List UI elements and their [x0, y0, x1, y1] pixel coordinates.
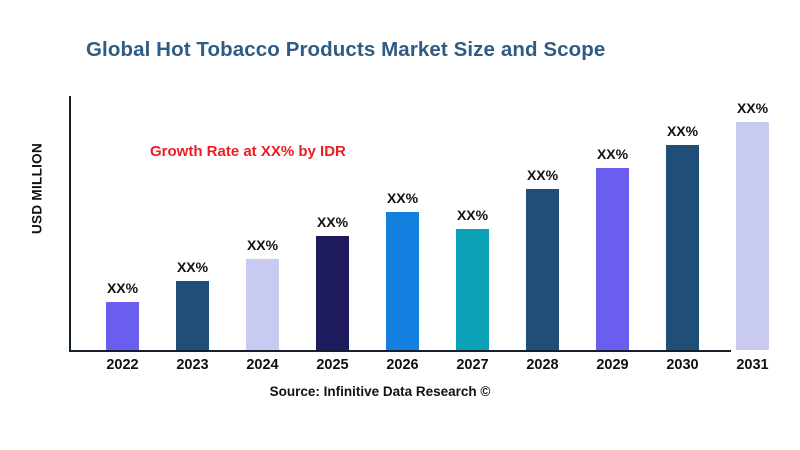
bar-rect-2022	[106, 302, 139, 350]
bar-2023[interactable]	[176, 281, 209, 350]
bar-rect-2026	[386, 212, 419, 350]
x-tick-label-2030: 2030	[653, 357, 713, 373]
x-tick-label-2027: 2027	[443, 357, 503, 373]
bar-value-label-2023: XX%	[177, 259, 208, 275]
bar-2031[interactable]	[736, 122, 769, 350]
bar-2028[interactable]	[526, 189, 559, 350]
bar-rect-2030	[666, 145, 699, 350]
bar-value-label-2030: XX%	[667, 123, 698, 139]
bar-value-label-2022: XX%	[107, 280, 138, 296]
x-tick-label-2022: 2022	[93, 357, 153, 373]
bar-2022[interactable]	[106, 302, 139, 350]
bar-value-label-2029: XX%	[597, 146, 628, 162]
x-tick-label-2023: 2023	[163, 357, 223, 373]
x-tick-label-2024: 2024	[233, 357, 293, 373]
bar-2027[interactable]	[456, 229, 489, 350]
bar-rect-2023	[176, 281, 209, 350]
bar-2025[interactable]	[316, 236, 349, 350]
bar-2024[interactable]	[246, 259, 279, 350]
x-tick-label-2031: 2031	[723, 357, 783, 373]
bar-rect-2028	[526, 189, 559, 350]
plot-area: XX%XX%XX%XX%XX%XX%XX%XX%XX%XX%	[0, 0, 800, 352]
bar-chart-figure: Global Hot Tobacco Products Market Size …	[0, 0, 800, 450]
bar-rect-2029	[596, 168, 629, 350]
source-note: Source: Infinitive Data Research ©	[0, 384, 760, 399]
x-tick-label-2026: 2026	[373, 357, 433, 373]
bar-value-label-2025: XX%	[317, 214, 348, 230]
bar-2029[interactable]	[596, 168, 629, 350]
x-tick-label-2029: 2029	[583, 357, 643, 373]
bar-value-label-2026: XX%	[387, 190, 418, 206]
bar-value-label-2031: XX%	[737, 100, 768, 116]
x-tick-label-2025: 2025	[303, 357, 363, 373]
bar-rect-2031	[736, 122, 769, 350]
bar-rect-2025	[316, 236, 349, 350]
bar-rect-2024	[246, 259, 279, 350]
bar-2026[interactable]	[386, 212, 419, 350]
x-tick-label-2028: 2028	[513, 357, 573, 373]
bar-2030[interactable]	[666, 145, 699, 350]
bar-rect-2027	[456, 229, 489, 350]
bar-value-label-2027: XX%	[457, 207, 488, 223]
bar-value-label-2024: XX%	[247, 237, 278, 253]
bar-value-label-2028: XX%	[527, 167, 558, 183]
